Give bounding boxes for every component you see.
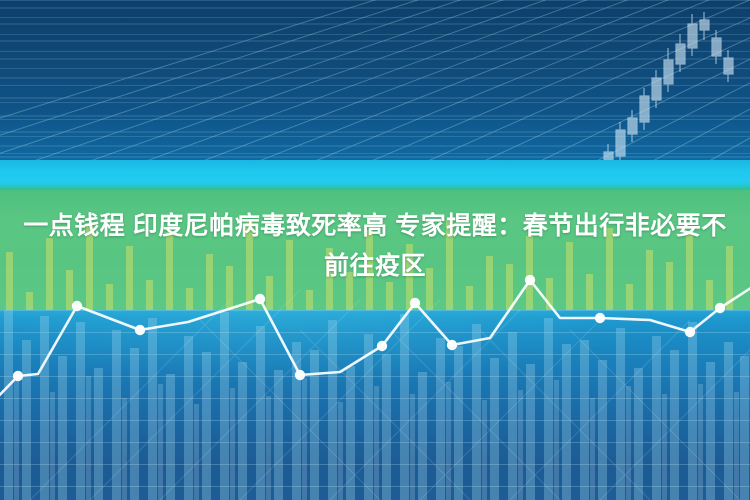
banner-image: 一点钱程 印度尼帕病毒致死率高 专家提醒：春节出行非必要不 前往疫区: [0, 0, 750, 500]
headline-line-1: 一点钱程 印度尼帕病毒致死率高 专家提醒：春节出行非必要不: [8, 206, 742, 246]
headline-line-2: 前往疫区: [8, 246, 742, 286]
headline-overlay: 一点钱程 印度尼帕病毒致死率高 专家提醒：春节出行非必要不 前往疫区: [0, 206, 750, 286]
